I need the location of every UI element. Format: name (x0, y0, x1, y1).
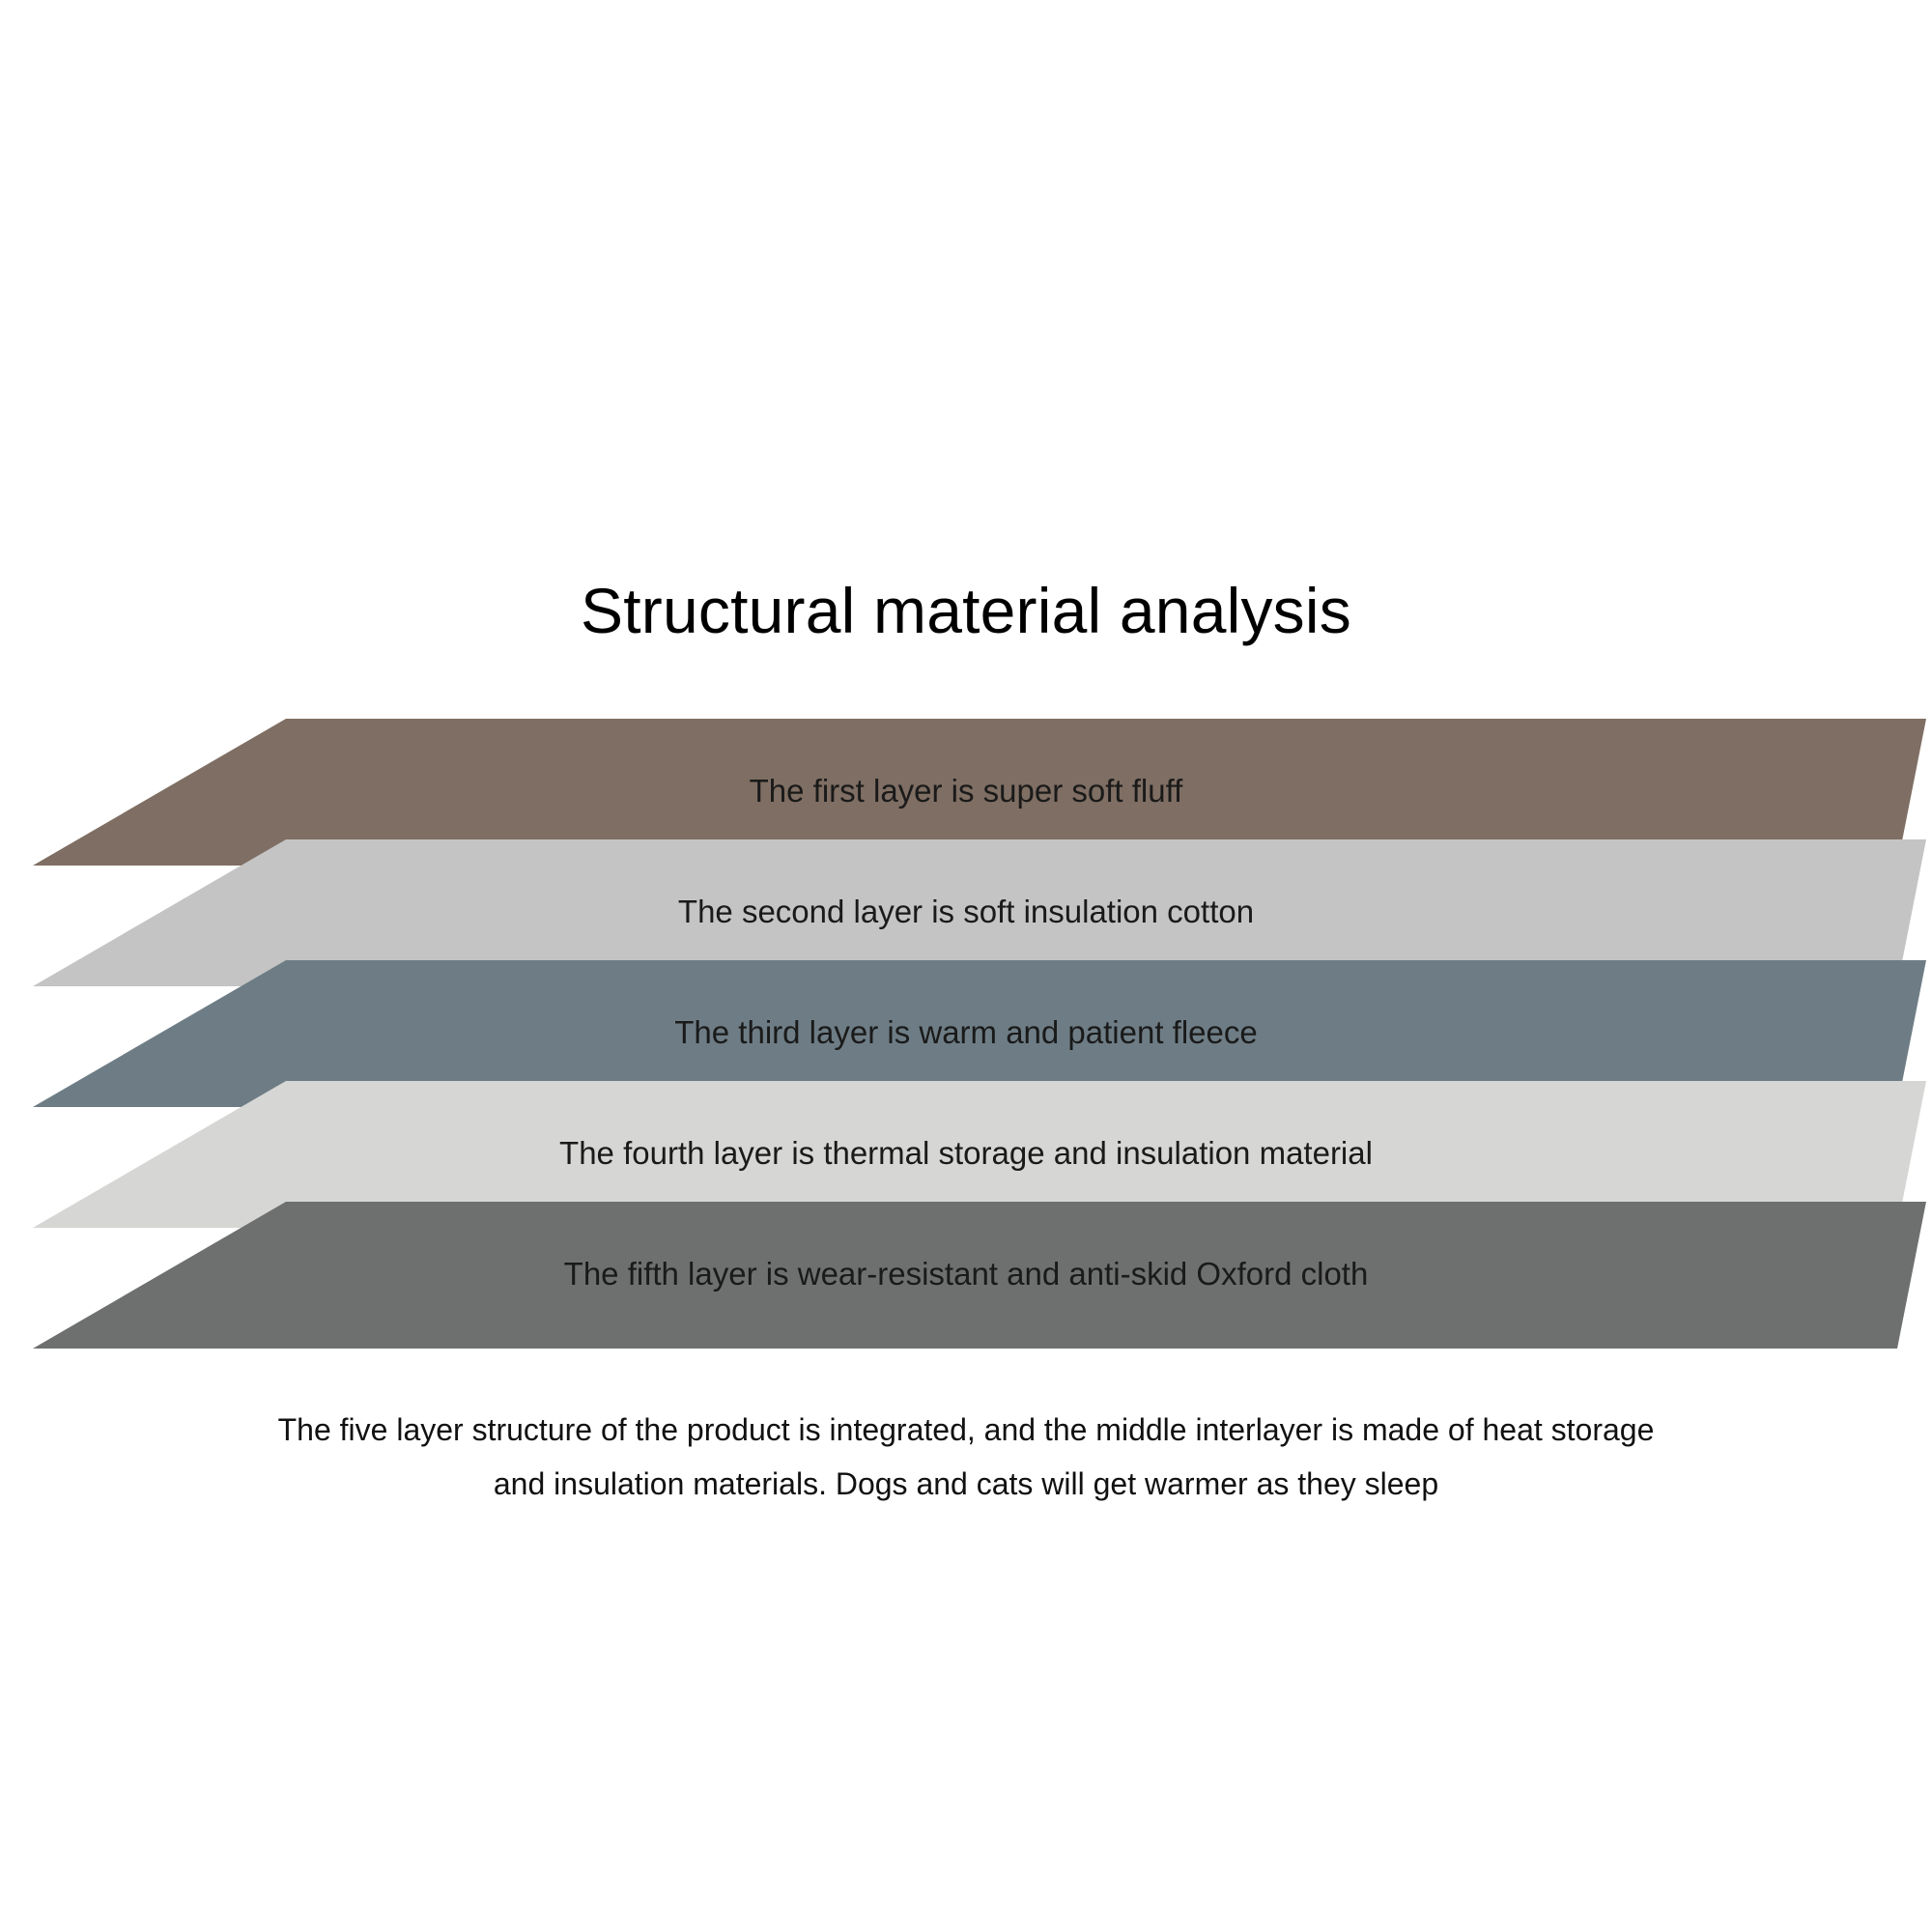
page-title: Structural material analysis (0, 576, 1932, 646)
layer-label-5: The fifth layer is wear-resistant and an… (0, 1258, 1932, 1290)
diagram-caption: The five layer structure of the product … (270, 1403, 1662, 1511)
layer-label-1: The first layer is super soft fluff (0, 775, 1932, 807)
layer-row-5[interactable]: The fifth layer is wear-resistant and an… (0, 1202, 1932, 1349)
layer-stack: The first layer is super soft fluff The … (0, 719, 1932, 1362)
layer-label-3: The third layer is warm and patient flee… (0, 1016, 1932, 1048)
layer-label-4: The fourth layer is thermal storage and … (0, 1137, 1932, 1169)
layer-label-2: The second layer is soft insulation cott… (0, 895, 1932, 927)
diagram-canvas: Structural material analysis The first l… (0, 0, 1932, 1932)
